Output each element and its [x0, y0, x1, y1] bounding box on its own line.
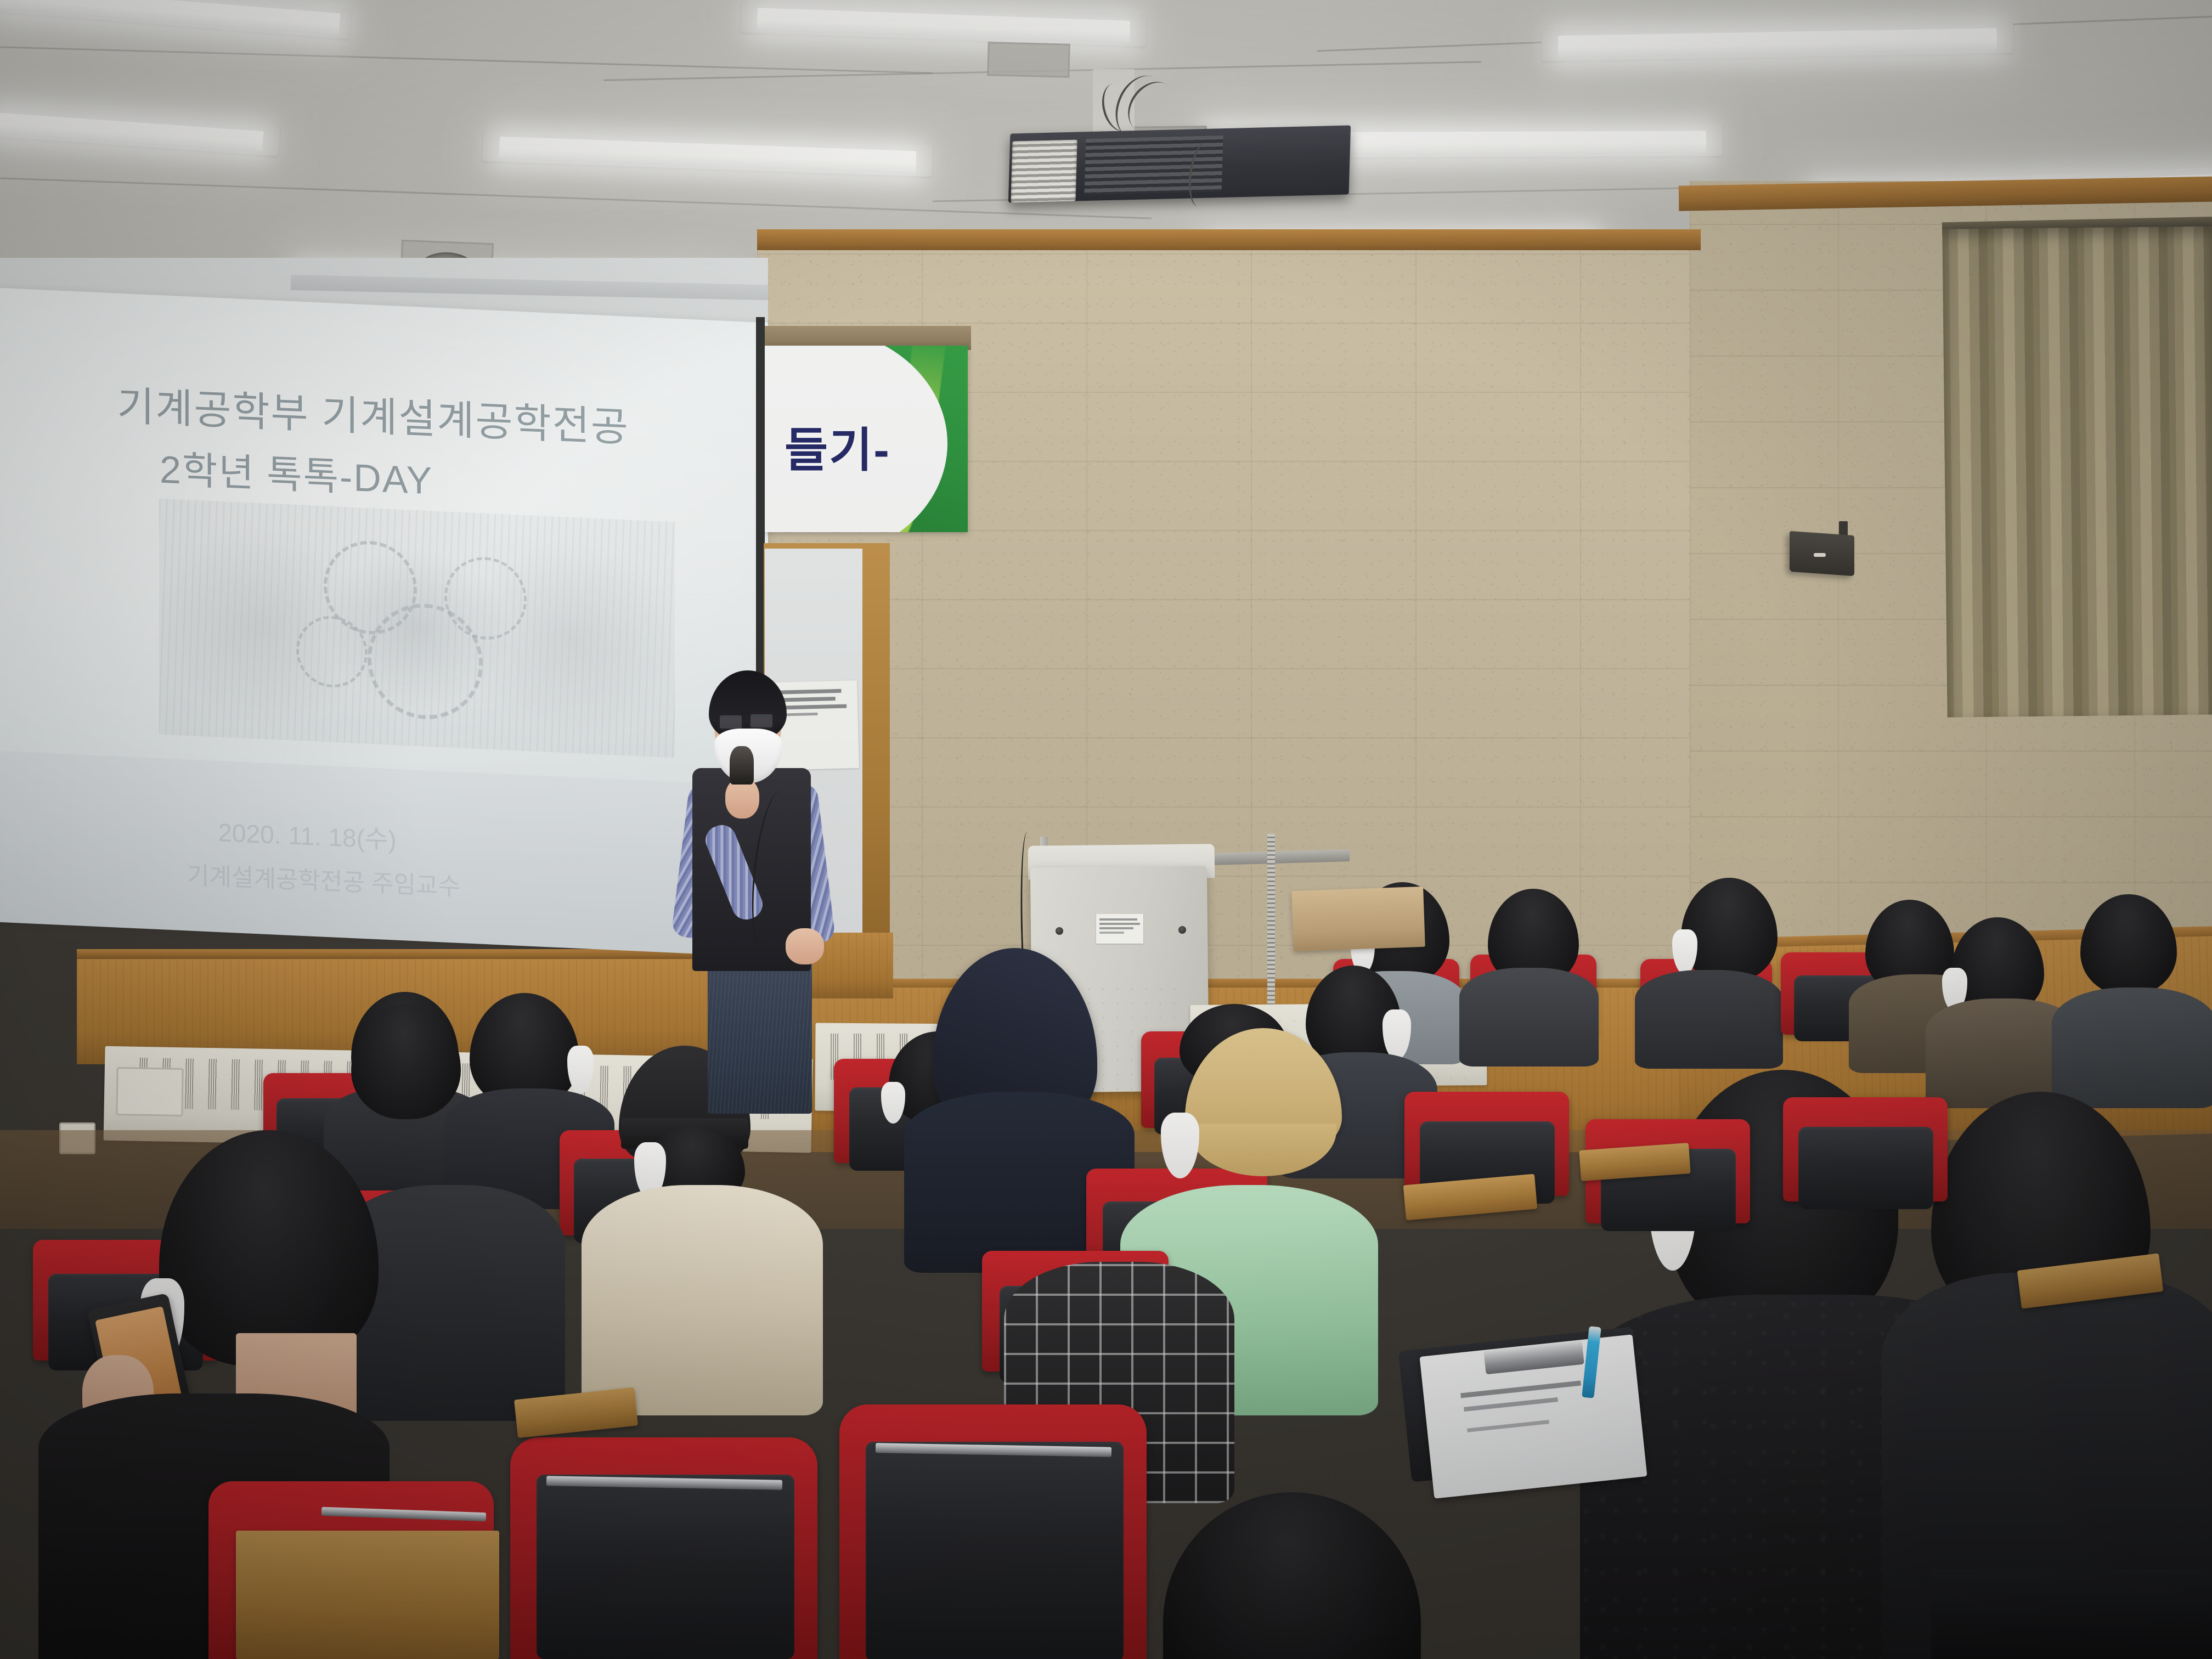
audience-head	[1163, 1492, 1421, 1659]
wall-banner: 들기-	[764, 346, 968, 532]
lectern-label	[1096, 914, 1143, 944]
presenter-hand	[786, 928, 824, 964]
cardboard-box	[1291, 887, 1425, 951]
window-curtain	[1942, 226, 2212, 717]
tablet-arm-desk[interactable]	[236, 1531, 499, 1659]
projector-lens-grill	[1011, 140, 1077, 203]
ceiling-vent	[987, 42, 1070, 78]
glasses-icon	[748, 712, 775, 730]
presenter-jeans	[708, 955, 812, 1114]
lecture-hall-photo: 기계공학부 기계설계공학전공 2학년 톡톡-DAY 2020. 11. 18(수…	[0, 0, 2212, 1659]
speaker-slot	[1814, 553, 1826, 557]
lectern-screw	[1178, 926, 1186, 934]
slide-image	[159, 499, 675, 758]
wall-trim	[757, 229, 1701, 250]
audience-body	[1459, 968, 1599, 1066]
seat-panel	[866, 1442, 1124, 1659]
microphone[interactable]	[730, 746, 754, 785]
banner-text: 들기-	[785, 411, 890, 480]
audience-body	[2052, 988, 2212, 1108]
foreground-shadow	[1931, 1569, 2212, 1659]
audience-body-cream	[582, 1185, 823, 1415]
radiator-control-panel	[116, 1067, 184, 1116]
podium-slot-strip	[1267, 834, 1275, 1031]
seat-panel	[537, 1475, 794, 1659]
lectern-screw	[1056, 927, 1063, 935]
audience-body	[1635, 970, 1783, 1069]
